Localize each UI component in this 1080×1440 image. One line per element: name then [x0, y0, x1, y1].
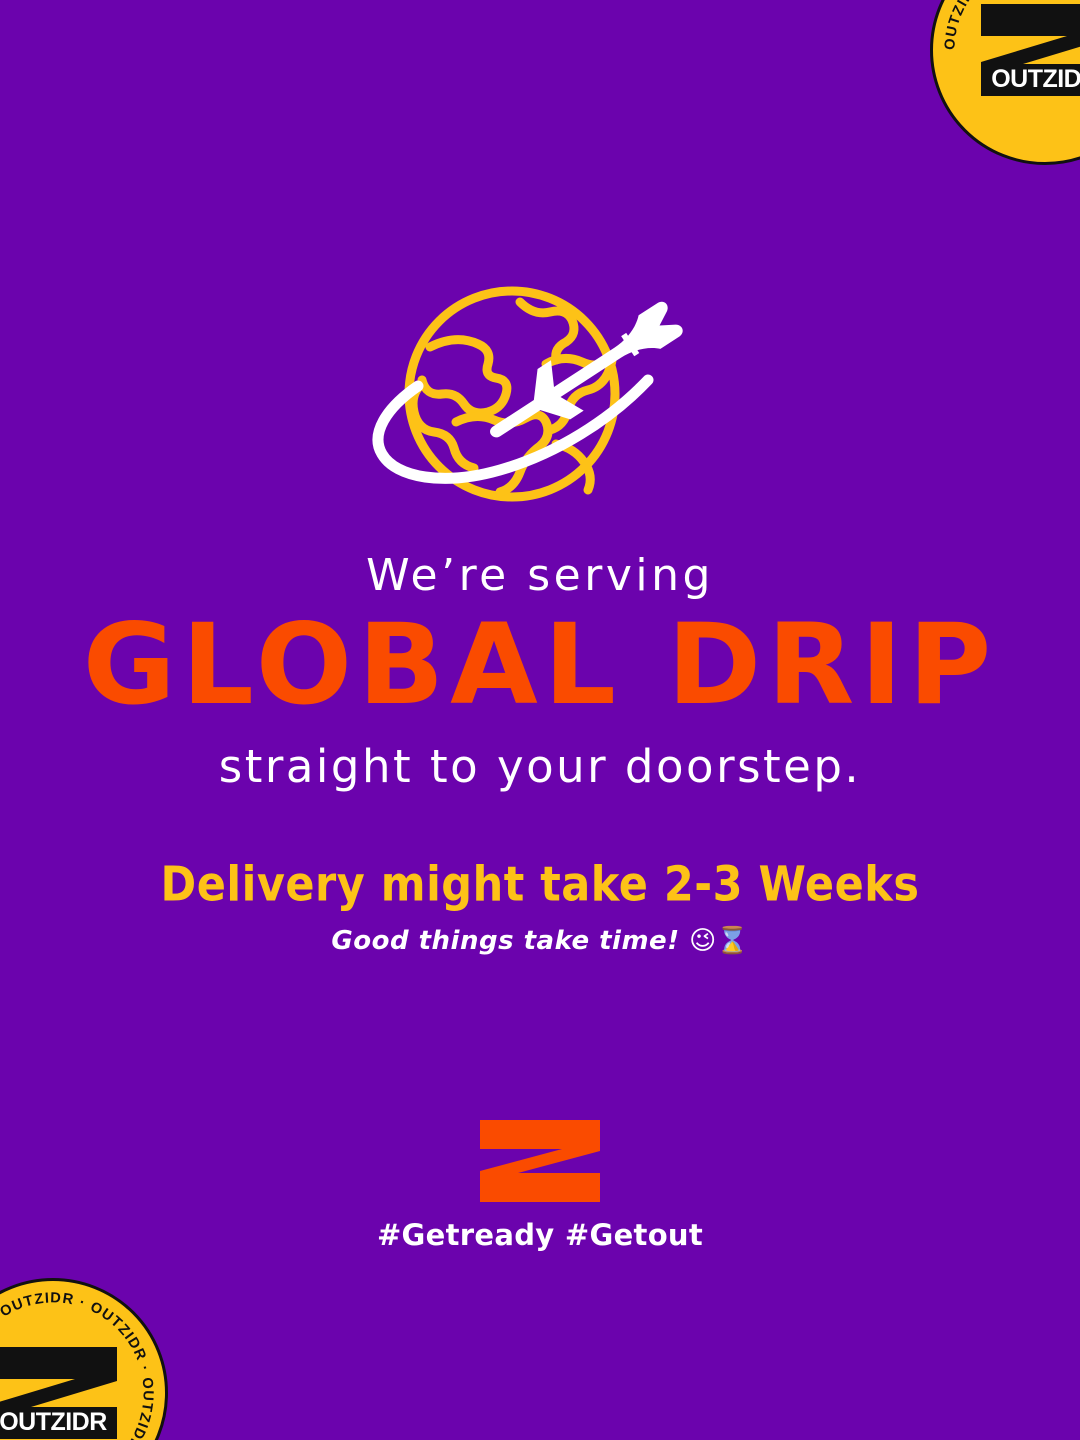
globe-plane-illustration	[360, 272, 720, 512]
reassurance-text: Good things take time! 😉⌛	[0, 927, 1080, 956]
hashtags-text: #Getready #Getout	[0, 1218, 1080, 1252]
subhead-text: straight to your doorstep.	[0, 742, 1080, 792]
outzidr-sticker-bottom-left: OUTZIDR · OUTZIDR · OUTZIDR · OUTZIDR · …	[0, 1278, 168, 1440]
eyebrow-text: We’re serving	[0, 552, 1080, 600]
reassurance-label: Good things take time!	[331, 926, 679, 956]
promo-poster: We’re serving GLOBAL DRIP straight to yo…	[0, 0, 1080, 1440]
footer-brand: #Getready #Getout	[0, 1118, 1080, 1252]
page-title: GLOBAL DRIP	[0, 606, 1080, 726]
outzidr-z-logo-black	[979, 2, 1080, 98]
outzidr-sticker-top-right: OUTZIDR · OUTZIDR · OUTZIDR · OUTZIDR · …	[930, 0, 1080, 165]
outzidr-z-logo	[478, 1118, 602, 1204]
wink-hourglass-emoji: 😉⌛	[689, 926, 748, 956]
outzidr-z-logo-black	[0, 1345, 119, 1440]
copy-block: We’re serving GLOBAL DRIP straight to yo…	[0, 552, 1080, 955]
sticker-core-top-right: OUTZIDR	[979, 2, 1080, 98]
delivery-note: Delivery might take 2-3 Weeks	[0, 859, 1080, 912]
sticker-core-bottom-left: OUTZIDR	[0, 1345, 119, 1440]
